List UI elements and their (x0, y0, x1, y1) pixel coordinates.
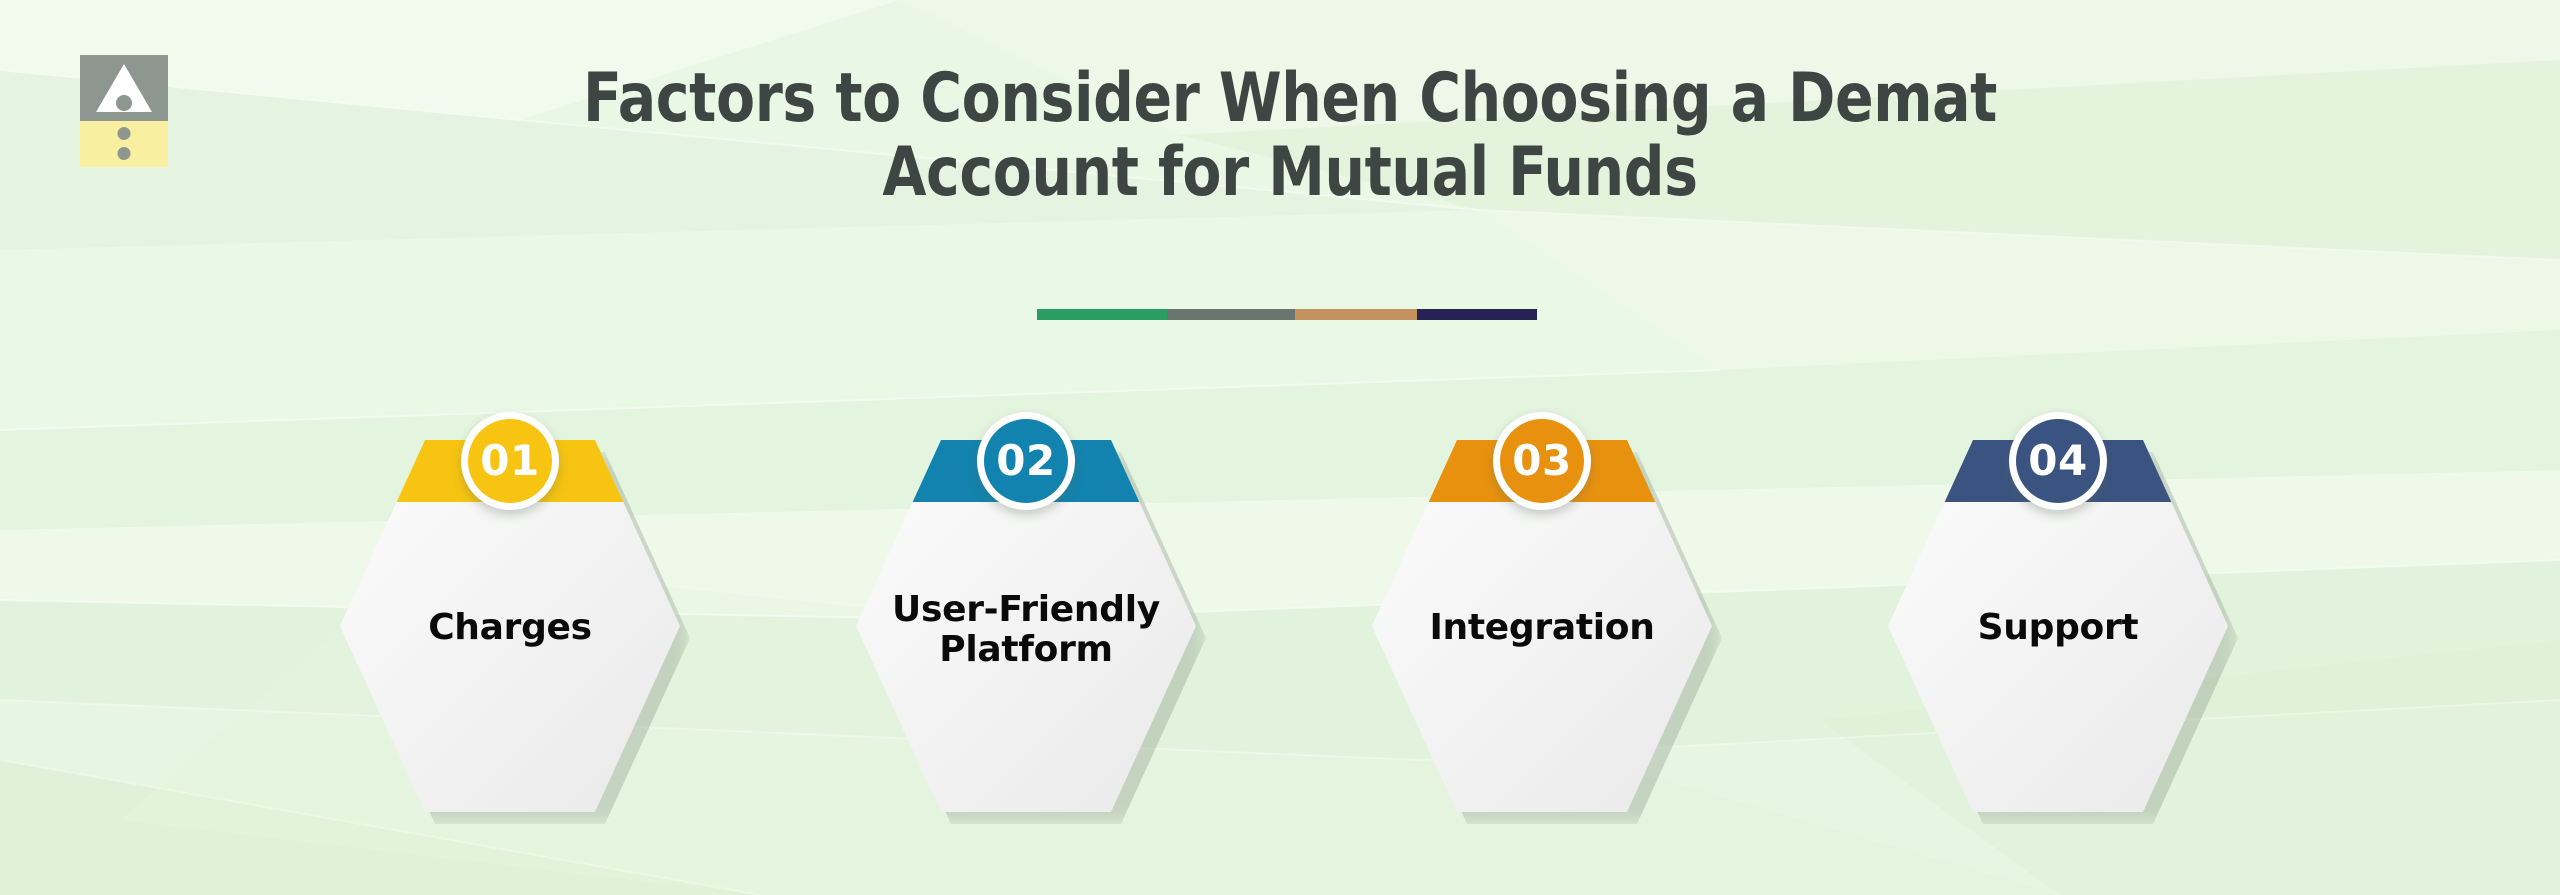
hexagon-number-text: 03 (1512, 440, 1571, 482)
hexagon-number-badge[interactable]: 01 (461, 412, 559, 510)
segment-navy (1417, 309, 1537, 320)
hexagon-number-text: 01 (480, 440, 539, 482)
hexagon-number-badge[interactable]: 04 (2009, 412, 2107, 510)
hexagon-number-badge[interactable]: 03 (1493, 412, 1591, 510)
hexagon-label: User-FriendlyPlatform (856, 590, 1196, 670)
hexagon-label: Charges (340, 608, 680, 648)
hexagon-label-line-2: Platform (874, 630, 1178, 670)
triangle-center-dot-icon (116, 95, 132, 111)
hexagon-card-01[interactable]: Charges01 (340, 440, 680, 812)
logo-bottom-panel (80, 121, 168, 167)
segment-green (1037, 309, 1167, 320)
page-title: Factors to Consider When Choosing a Dema… (300, 62, 2280, 210)
hexagon-number-text: 04 (2028, 440, 2087, 482)
hexagon-card-04[interactable]: Support04 (1888, 440, 2228, 812)
hexagon-label: Support (1888, 608, 2228, 648)
page-title-line-1: Factors to Consider When Choosing a Dema… (369, 62, 2210, 136)
hexagon-label-line-1: User-Friendly (874, 590, 1178, 630)
segment-tan (1295, 309, 1417, 320)
logo-top-panel (80, 55, 168, 121)
hexagon-number-text: 02 (996, 440, 1055, 482)
hexagon-label: Integration (1372, 608, 1712, 648)
logo-dot-lower-icon (118, 147, 131, 160)
hexagon-card-03[interactable]: Integration03 (1372, 440, 1712, 812)
brand-logo (80, 55, 168, 167)
page-title-line-2: Account for Mutual Funds (369, 136, 2210, 210)
hexagon-number-badge[interactable]: 02 (977, 412, 1075, 510)
logo-dot-upper-icon (118, 127, 131, 140)
hexagon-label-line-1: Integration (1390, 608, 1694, 648)
title-divider (1037, 309, 1537, 320)
hexagon-label-line-1: Charges (358, 608, 662, 648)
hexagon-card-02[interactable]: User-FriendlyPlatform02 (856, 440, 1196, 812)
segment-gray (1167, 309, 1295, 320)
hexagon-label-line-1: Support (1906, 608, 2210, 648)
